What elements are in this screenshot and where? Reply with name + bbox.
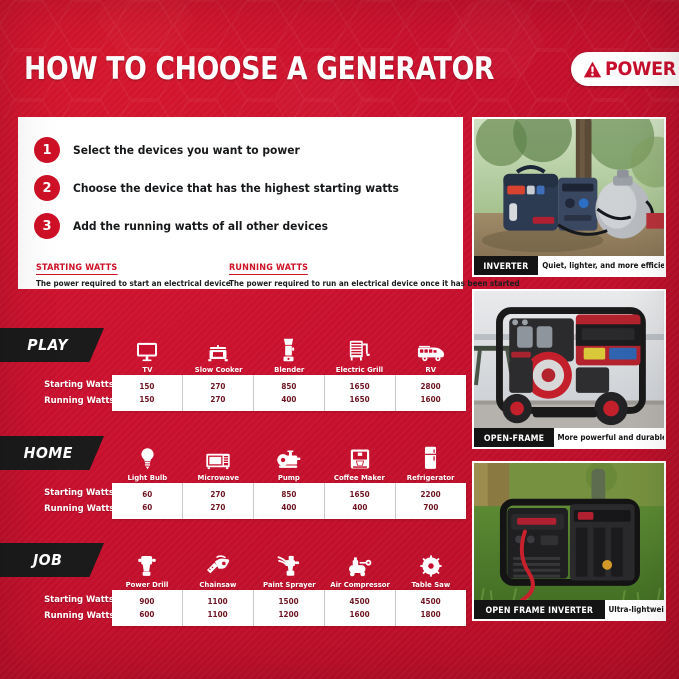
- starting-watts-value: 850: [281, 381, 296, 392]
- photo-card-inverter: INVERTER Quiet, lighter, and more effici…: [472, 117, 666, 277]
- device-label: Slow Cooker: [194, 365, 242, 374]
- step-number-badge: 1: [34, 137, 60, 163]
- device-label: Microwave: [197, 473, 239, 482]
- step-item: 3 Add the running watts of all other dev…: [34, 209, 447, 243]
- category-badge-job: JOB: [0, 543, 104, 577]
- category-badge-label: HOME: [23, 444, 72, 462]
- running-watts-value: 400: [352, 502, 367, 513]
- device-icons-row: Power Drill Chainsaw Paint Sprayer Air C…: [112, 541, 466, 589]
- page-title: HOW TO CHOOSE A GENERATOR: [24, 51, 494, 87]
- watts-row-labels: Starting Watts Running Watts: [24, 486, 114, 515]
- photo-card-open-frame: OPEN-FRAME More powerful and durable: [472, 289, 666, 449]
- air-compressor-icon: [347, 551, 373, 577]
- rv-icon: [417, 336, 445, 362]
- device-cell: Coffee Maker: [324, 434, 395, 482]
- device-cell: Pump: [254, 434, 325, 482]
- photo-caption-desc-text: Quiet, lighter, and more efficient: [542, 261, 666, 270]
- slow-cooker-icon: [207, 336, 229, 362]
- photo-caption: INVERTER Quiet, lighter, and more effici…: [474, 256, 664, 275]
- tv-icon: [136, 336, 158, 362]
- starting-watts-value: 270: [210, 381, 225, 392]
- device-cell: Air Compressor: [324, 541, 395, 589]
- watts-column: 900 600: [112, 590, 183, 626]
- watts-column: 4500 1800: [396, 590, 466, 626]
- starting-watts-value: 900: [139, 596, 154, 607]
- step-number-badge: 3: [34, 213, 60, 239]
- electric-grill-icon: [348, 336, 372, 362]
- steps-card: 1 Select the devices you want to power 2…: [18, 117, 463, 289]
- device-cell: Electric Grill: [324, 326, 395, 374]
- running-watts-value: 270: [210, 394, 225, 405]
- device-label: Electric Grill: [336, 365, 383, 374]
- device-label: Air Compressor: [330, 580, 390, 589]
- device-cell: Slow Cooker: [183, 326, 254, 374]
- photo-caption-desc-text: More powerful and durable: [558, 433, 666, 442]
- running-watts-value: 600: [139, 609, 154, 620]
- definition-body: The power required to run an electrical …: [229, 279, 424, 288]
- device-cell: Power Drill: [112, 541, 183, 589]
- category-badge-label: PLAY: [28, 336, 69, 354]
- device-label: Power Drill: [126, 580, 169, 589]
- category-badge-home: HOME: [0, 436, 104, 470]
- photo-caption-desc: Quiet, lighter, and more efficient: [538, 256, 666, 275]
- device-label: Coffee Maker: [334, 473, 385, 482]
- paint-sprayer-icon: [277, 551, 301, 577]
- device-label: Refrigerator: [407, 473, 455, 482]
- power-drill-icon: [137, 551, 157, 577]
- watts-column: 150 150: [112, 375, 183, 411]
- running-watts-label: Running Watts: [44, 609, 114, 622]
- starting-watts-value: 4500: [350, 596, 370, 607]
- photo-caption-tag: OPEN-FRAME: [474, 428, 554, 447]
- device-cell: RV: [395, 326, 466, 374]
- running-watts-value: 400: [281, 502, 296, 513]
- device-cell: TV: [112, 326, 183, 374]
- device-label: Table Saw: [411, 580, 450, 589]
- starting-watts-value: 4500: [421, 596, 441, 607]
- photo-caption-tag-text: OPEN FRAME INVERTER: [485, 605, 593, 615]
- device-label: Paint Sprayer: [263, 580, 316, 589]
- watts-table-home: 60 60 270 270 850 400 1650 400 2200 700: [112, 483, 466, 519]
- step-item: 1 Select the devices you want to power: [34, 133, 447, 167]
- table-saw-icon: [420, 551, 442, 577]
- running-watts-label: Running Watts: [44, 502, 114, 515]
- watts-column: 850 400: [254, 375, 325, 411]
- photo-card-open-frame-inverter: OPEN FRAME INVERTER Ultra-lightweight, P…: [472, 461, 666, 621]
- starting-watts-value: 60: [142, 489, 152, 500]
- device-label: TV: [142, 365, 152, 374]
- brand-logo: POWER ™: [571, 52, 679, 86]
- watts-table-play: 150 150 270 270 850 400 1650 1650 2800 1…: [112, 375, 466, 411]
- watts-row-labels: Starting Watts Running Watts: [24, 378, 114, 407]
- watts-column: 1100 1100: [183, 590, 254, 626]
- running-watts-value: 270: [210, 502, 225, 513]
- photo-caption: OPEN FRAME INVERTER Ultra-lightweight, P…: [474, 600, 664, 619]
- starting-watts-value: 1500: [279, 596, 299, 607]
- watts-column: 1650 400: [325, 483, 396, 519]
- watts-column: 4500 1600: [325, 590, 396, 626]
- watts-column: 60 60: [112, 483, 183, 519]
- watts-column: 270 270: [183, 375, 254, 411]
- starting-watts-label: Starting Watts: [44, 593, 114, 606]
- photo-caption-tag-text: OPEN-FRAME: [484, 433, 544, 443]
- running-watts-value: 1600: [421, 394, 441, 405]
- starting-watts-value: 2800: [421, 381, 441, 392]
- watts-row-labels: Starting Watts Running Watts: [24, 593, 114, 622]
- step-text: Add the running watts of all other devic…: [73, 219, 328, 233]
- device-label: Pump: [278, 473, 300, 482]
- step-text: Choose the device that has the highest s…: [73, 181, 399, 195]
- photo-caption-tag: INVERTER: [474, 256, 538, 275]
- device-cell: Chainsaw: [183, 541, 254, 589]
- starting-watts-value: 1650: [350, 381, 370, 392]
- step-number-badge: 2: [34, 175, 60, 201]
- watts-table-job: 900 600 1100 1100 1500 1200 4500 1600 45…: [112, 590, 466, 626]
- starting-watts-value: 150: [139, 381, 154, 392]
- starting-watts-value: 1100: [208, 596, 228, 607]
- device-cell: Paint Sprayer: [254, 541, 325, 589]
- brand-logo-text: POWER: [605, 58, 676, 80]
- running-watts-value: 60: [142, 502, 152, 513]
- device-cell: Refrigerator: [395, 434, 466, 482]
- photo-caption: OPEN-FRAME More powerful and durable: [474, 428, 664, 447]
- refrigerator-icon: [423, 444, 438, 470]
- definition-title: RUNNING WATTS: [229, 263, 308, 275]
- running-watts-value: 1800: [421, 609, 441, 620]
- starting-watts-value: 850: [281, 489, 296, 500]
- blender-icon: [281, 336, 296, 362]
- watts-column: 2800 1600: [396, 375, 466, 411]
- running-watts-value: 1100: [208, 609, 228, 620]
- starting-watts-label: Starting Watts: [44, 486, 114, 499]
- open-frame-generator-photo: [474, 291, 664, 448]
- starting-watts-label: Starting Watts: [44, 378, 114, 391]
- device-label: RV: [425, 365, 436, 374]
- device-cell: Microwave: [183, 434, 254, 482]
- watts-column: 1500 1200: [254, 590, 325, 626]
- photo-caption-desc: Ultra-lightweight, Portable: [605, 600, 666, 619]
- definition-starting-watts: STARTING WATTS The power required to sta…: [36, 257, 229, 288]
- definition-title: STARTING WATTS: [36, 263, 117, 275]
- photo-caption-tag: OPEN FRAME INVERTER: [474, 600, 605, 619]
- a-ipower-triangle-icon: [583, 60, 602, 79]
- infographic-poster: HOW TO CHOOSE A GENERATOR POWER ™ 1 Sele…: [0, 0, 679, 679]
- starting-watts-value: 270: [210, 489, 225, 500]
- chainsaw-icon: [205, 551, 231, 577]
- running-watts-value: 1600: [350, 609, 370, 620]
- category-badge-play: PLAY: [0, 328, 104, 362]
- device-cell: Light Bulb: [112, 434, 183, 482]
- running-watts-value: 700: [423, 502, 438, 513]
- step-item: 2 Choose the device that has the highest…: [34, 171, 447, 205]
- device-label: Light Bulb: [128, 473, 168, 482]
- definitions-row: STARTING WATTS The power required to sta…: [34, 257, 447, 288]
- device-icons-row: Light Bulb Microwave Pump Coffee Maker: [112, 434, 466, 482]
- blue-inverter-generator-photo: [474, 119, 664, 276]
- running-watts-value: 150: [139, 394, 154, 405]
- coffee-maker-icon: [349, 444, 371, 470]
- photo-caption-desc: More powerful and durable: [554, 428, 666, 447]
- watts-column: 850 400: [254, 483, 325, 519]
- device-label: Chainsaw: [200, 580, 237, 589]
- photo-caption-tag-text: INVERTER: [483, 261, 528, 271]
- starting-watts-value: 1650: [350, 489, 370, 500]
- watts-column: 2200 700: [396, 483, 466, 519]
- definition-running-watts: RUNNING WATTS The power required to run …: [229, 257, 435, 288]
- device-cell: Blender: [254, 326, 325, 374]
- starting-watts-value: 2200: [421, 489, 441, 500]
- device-icons-row: TV Slow Cooker Blender Electric Grill: [112, 326, 466, 374]
- device-label: Blender: [274, 365, 304, 374]
- running-watts-label: Running Watts: [44, 394, 114, 407]
- black-open-frame-inverter-photo: [474, 463, 664, 620]
- running-watts-value: 1650: [350, 394, 370, 405]
- watts-column: 270 270: [183, 483, 254, 519]
- running-watts-value: 400: [281, 394, 296, 405]
- definition-body: The power required to start an electrica…: [36, 279, 219, 288]
- light-bulb-icon: [140, 444, 155, 470]
- pump-icon: [276, 444, 302, 470]
- microwave-icon: [205, 444, 231, 470]
- device-cell: Table Saw: [395, 541, 466, 589]
- photo-caption-desc-text: Ultra-lightweight, Portable: [608, 605, 666, 614]
- poster-header: HOW TO CHOOSE A GENERATOR POWER ™: [0, 30, 679, 108]
- category-badge-label: JOB: [33, 551, 62, 569]
- step-text: Select the devices you want to power: [73, 143, 300, 157]
- watts-column: 1650 1650: [325, 375, 396, 411]
- running-watts-value: 1200: [279, 609, 299, 620]
